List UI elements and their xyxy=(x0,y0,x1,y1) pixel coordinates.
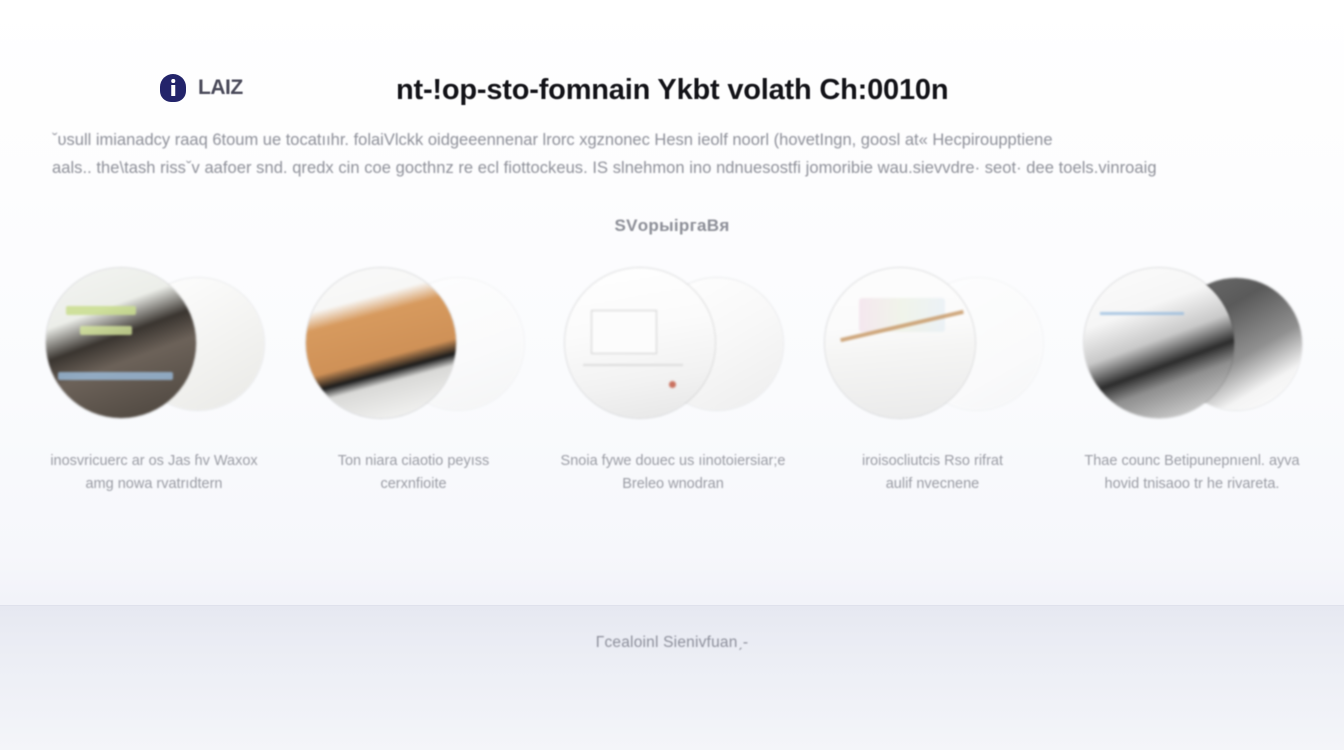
card-caption-line-1: iroisocliutcis Rso rifrat xyxy=(808,450,1058,473)
thumb-line xyxy=(583,364,683,366)
card-caption-line-2: cerxnfioite xyxy=(289,473,539,496)
thumb-accent-line xyxy=(1100,312,1184,315)
card-caption-line-2: Breleo wnodran xyxy=(548,473,798,496)
thumb-shape-primary xyxy=(1084,268,1234,418)
card-item[interactable]: Snoia fywe douec us ıinotoiersiar;e Brel… xyxy=(547,262,799,496)
intro-line-2: aals.. the\tash rissˇv aafoer snd. qredx… xyxy=(52,154,1332,182)
intro-paragraph: ˇυsull imianadcy raaq 6toum ue tocatııhr… xyxy=(52,126,1332,182)
card-thumbnail-4[interactable] xyxy=(809,262,1057,422)
thumb-accent-1 xyxy=(66,306,136,315)
card-caption: Thae counc Betipunepnıenl. ayva hovid tn… xyxy=(1067,450,1317,496)
card-caption-line-2: aulif nvecnene xyxy=(808,473,1058,496)
card-caption: Ton niara ciaotio peyıss cerxnfioite xyxy=(289,450,539,496)
card-item[interactable]: Thae counc Betipunepnıenl. ayva hovid tn… xyxy=(1066,262,1318,496)
thumb-shape-primary xyxy=(825,268,975,418)
card-thumbnail-1[interactable] xyxy=(30,262,278,422)
brand-header[interactable]: LAIZ xyxy=(160,68,243,108)
footer-band: Γcealoinl Sienivfuanˏ- xyxy=(0,605,1344,750)
thumb-shape-primary xyxy=(565,268,715,418)
card-thumbnail-5[interactable] xyxy=(1068,262,1316,422)
section-label: SVорыіргаВя xyxy=(0,216,1344,236)
card-caption-line-2: amg nowa rvatrıdtern xyxy=(29,473,279,496)
card-caption-line-1: Snoia fywe douec us ıinotoiersiar;e xyxy=(548,450,798,473)
info-badge-icon xyxy=(160,74,186,102)
card-caption-line-2: hovid tnisaoo tr he rivareta. xyxy=(1067,473,1317,496)
info-badge-stem xyxy=(171,85,175,96)
page-title: nt-!op-sto-fomnain Ykbt volath Ch:0010n xyxy=(396,74,1016,107)
card-caption: iroisocliutcis Rso rifrat aulif nvecnene xyxy=(808,450,1058,496)
card-item[interactable]: Ton niara ciaotio peyıss cerxnfioite xyxy=(288,262,540,496)
thumb-panel xyxy=(591,310,657,354)
card-item[interactable]: inosvricuerc ar os Jas ɦv Waxox amg nowa… xyxy=(28,262,280,496)
card-caption-line-1: inosvricuerc ar os Jas ɦv Waxox xyxy=(29,450,279,473)
card-caption-line-1: Ton niara ciaotio peyıss xyxy=(289,450,539,473)
card-item[interactable]: iroisocliutcis Rso rifrat aulif nvecnene xyxy=(807,262,1059,496)
card-caption-line-1: Thae counc Betipunepnıenl. ayva xyxy=(1067,450,1317,473)
info-badge-dot xyxy=(171,79,175,83)
card-row: inosvricuerc ar os Jas ɦv Waxox amg nowa… xyxy=(28,262,1318,496)
thumb-shape-primary xyxy=(46,268,196,418)
page-root: LAIZ nt-!op-sto-fomnain Ykbt volath Ch:0… xyxy=(0,0,1344,750)
card-caption: inosvricuerc ar os Jas ɦv Waxox amg nowa… xyxy=(29,450,279,496)
intro-line-1: ˇυsull imianadcy raaq 6toum ue tocatııhr… xyxy=(52,126,1332,154)
card-thumbnail-2[interactable] xyxy=(290,262,538,422)
footer-text: Γcealoinl Sienivfuanˏ- xyxy=(0,634,1344,652)
thumb-accent-bar xyxy=(58,372,173,380)
card-thumbnail-3[interactable] xyxy=(549,262,797,422)
thumb-shape-primary xyxy=(306,268,456,418)
thumb-accent-2 xyxy=(80,326,132,335)
thumb-dot xyxy=(669,381,676,388)
card-caption: Snoia fywe douec us ıinotoiersiar;e Brel… xyxy=(548,450,798,496)
brand-wordmark: LAIZ xyxy=(198,76,243,100)
